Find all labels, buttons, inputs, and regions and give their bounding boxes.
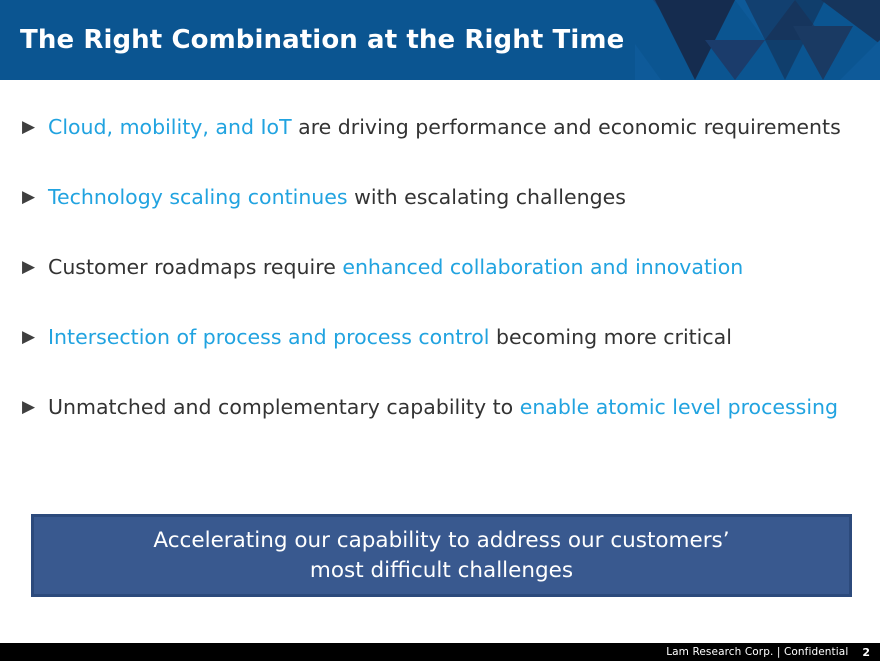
bullet-triangle-icon: ▶ bbox=[22, 393, 48, 422]
bullet-text-highlight: Technology scaling continues bbox=[48, 185, 348, 209]
bullet-item: ▶Intersection of process and process con… bbox=[0, 323, 880, 393]
slide-footer: Lam Research Corp. | Confidential 2 bbox=[0, 643, 880, 661]
slide-canvas: The Right Combination at the Right Time … bbox=[0, 0, 880, 661]
page-title: The Right Combination at the Right Time bbox=[20, 0, 624, 80]
bullet-item: ▶Technology scaling continues with escal… bbox=[0, 183, 880, 253]
footer-confidential-label: Lam Research Corp. | Confidential bbox=[666, 646, 848, 658]
bullet-text: Cloud, mobility, and IoT are driving per… bbox=[48, 113, 880, 142]
bullet-triangle-icon: ▶ bbox=[22, 323, 48, 352]
bullet-text-highlight: enhanced collaboration and innovation bbox=[342, 255, 743, 279]
bullet-text: Technology scaling continues with escala… bbox=[48, 183, 880, 212]
page-number: 2 bbox=[862, 646, 870, 659]
bullet-text-plain: with escalating challenges bbox=[348, 185, 626, 209]
callout-line-1: Accelerating our capability to address o… bbox=[153, 528, 729, 553]
bullet-item: ▶Customer roadmaps require enhanced coll… bbox=[0, 253, 880, 323]
bullet-item: ▶Cloud, mobility, and IoT are driving pe… bbox=[0, 113, 880, 183]
bullet-list: ▶Cloud, mobility, and IoT are driving pe… bbox=[0, 113, 880, 463]
bullet-text: Unmatched and complementary capability t… bbox=[48, 393, 880, 422]
callout-box: Accelerating our capability to address o… bbox=[31, 514, 852, 597]
bullet-text-plain: Customer roadmaps require bbox=[48, 255, 342, 279]
bullet-text-highlight: enable atomic level processing bbox=[520, 395, 838, 419]
bullet-item: ▶Unmatched and complementary capability … bbox=[0, 393, 880, 463]
callout-line-2: most difficult challenges bbox=[310, 558, 573, 583]
bullet-text: Intersection of process and process cont… bbox=[48, 323, 880, 352]
bullet-text-highlight: Cloud, mobility, and IoT bbox=[48, 115, 292, 139]
bullet-text-plain: are driving performance and economic req… bbox=[292, 115, 841, 139]
bullet-triangle-icon: ▶ bbox=[22, 253, 48, 282]
slide-header: The Right Combination at the Right Time bbox=[0, 0, 880, 80]
bullet-triangle-icon: ▶ bbox=[22, 113, 48, 142]
callout-text: Accelerating our capability to address o… bbox=[153, 526, 729, 586]
bullet-text-plain: becoming more critical bbox=[489, 325, 731, 349]
bullet-text-plain: Unmatched and complementary capability t… bbox=[48, 395, 520, 419]
bullet-triangle-icon: ▶ bbox=[22, 183, 48, 212]
header-triangle-decoration bbox=[635, 0, 880, 80]
bullet-text-highlight: Intersection of process and process cont… bbox=[48, 325, 489, 349]
bullet-text: Customer roadmaps require enhanced colla… bbox=[48, 253, 880, 282]
